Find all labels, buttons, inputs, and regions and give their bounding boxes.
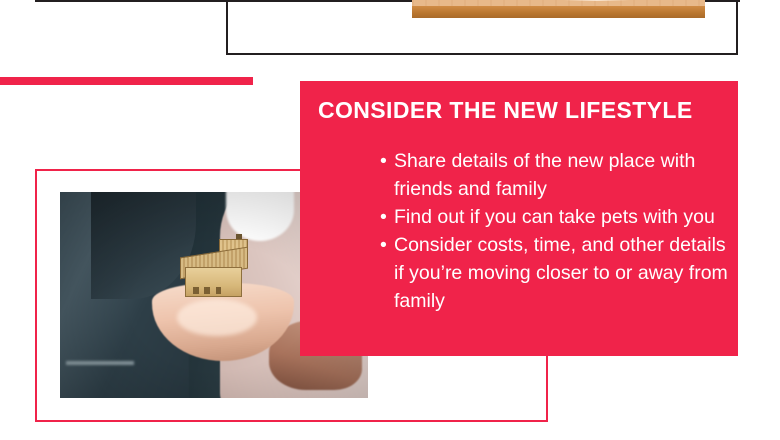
list-item: • Consider costs, time, and other detail… [380,231,728,315]
bullet-marker-icon: • [380,203,387,231]
bullet-marker-icon: • [380,147,387,175]
desk-edge-lip [412,18,705,28]
list-item: • Find out if you can take pets with you [380,203,728,231]
panel-title: CONSIDER THE NEW LIFESTYLE [318,97,693,124]
left-red-accent-bar [0,77,253,85]
list-item: • Share details of the new place with fr… [380,147,728,203]
list-item-text: Find out if you can take pets with you [394,206,715,228]
desk-light-glare [564,0,628,1]
infographic-canvas: CONSIDER THE NEW LIFESTYLE • Share detai… [0,0,780,440]
list-item-text: Share details of the new place with frie… [394,150,695,200]
lifestyle-red-panel: CONSIDER THE NEW LIFESTYLE • Share detai… [300,81,738,356]
list-item-text: Consider costs, time, and other details … [394,234,728,312]
desk-photo [412,0,705,28]
desk-front-edge [412,6,705,18]
lifestyle-bullet-list: • Share details of the new place with fr… [380,147,728,315]
bullet-marker-icon: • [380,231,387,259]
